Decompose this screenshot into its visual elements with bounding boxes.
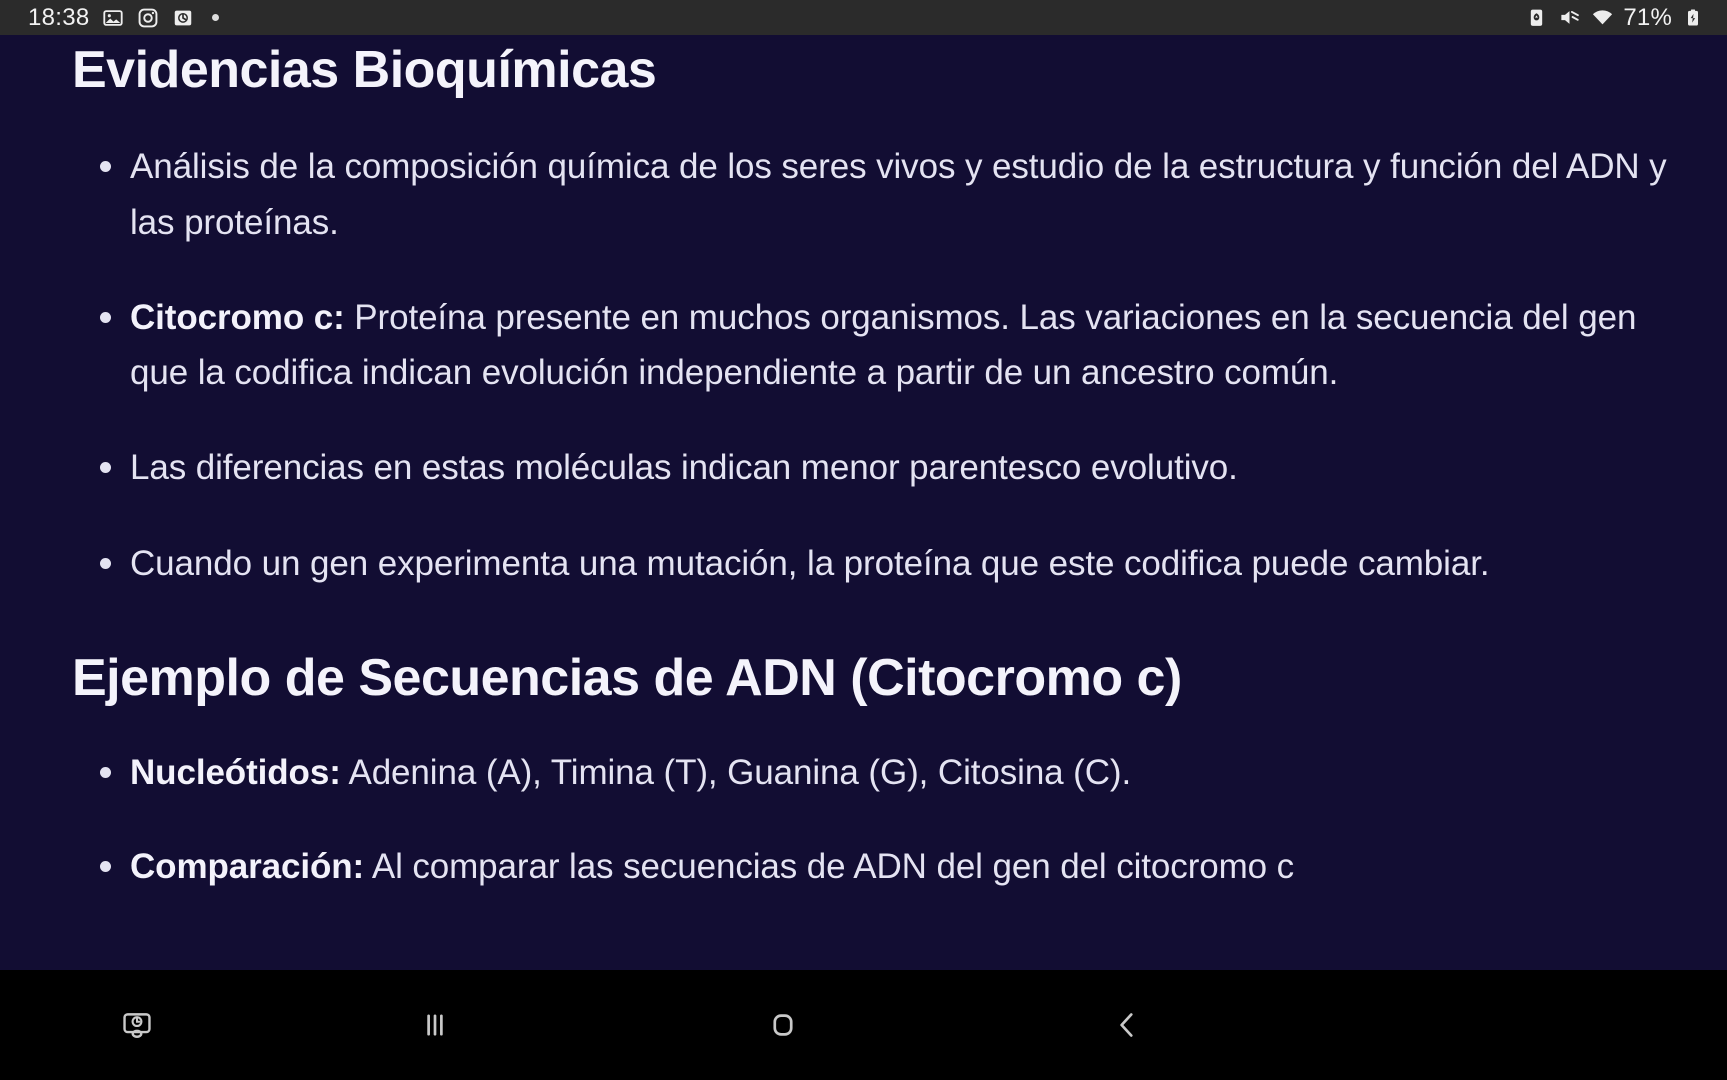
list-item-text: Las diferencias en estas moléculas indic… bbox=[130, 448, 1238, 487]
list-item: Análisis de la composición química de lo… bbox=[72, 139, 1687, 250]
presentation-slide[interactable]: Evidencias Bioquímicas Análisis de la co… bbox=[0, 35, 1727, 970]
screenshot-notification-icon bbox=[171, 6, 195, 30]
list-item-text: Cuando un gen experimenta una mutación, … bbox=[130, 544, 1489, 583]
mute-icon bbox=[1557, 6, 1581, 30]
status-bar: 18:38 bbox=[0, 0, 1727, 35]
device-screen: 18:38 bbox=[0, 0, 1727, 1080]
list-item-lead: Comparación: bbox=[130, 847, 364, 886]
status-clock: 18:38 bbox=[28, 6, 90, 30]
gallery-icon bbox=[101, 6, 125, 30]
list-item-text: Al comparar las secuencias de ADN del ge… bbox=[364, 847, 1294, 886]
list-item-text: Proteína presente en muchos organismos. … bbox=[130, 298, 1636, 392]
list-item-text: Adenina (A), Timina (T), Guanina (G), Ci… bbox=[341, 753, 1131, 792]
list-item: Las diferencias en estas moléculas indic… bbox=[72, 440, 1687, 495]
battery-charging-icon bbox=[1681, 6, 1705, 30]
list-item: Nucleótidos: Adenina (A), Timina (T), Gu… bbox=[72, 745, 1687, 800]
list-item: Cuando un gen experimenta una mutación, … bbox=[72, 536, 1687, 591]
slide-content: Evidencias Bioquímicas Análisis de la co… bbox=[0, 41, 1727, 894]
recents-icon[interactable] bbox=[370, 970, 500, 1080]
screen-capture-icon[interactable] bbox=[72, 970, 202, 1080]
section-heading-evidencias-bioquimicas: Evidencias Bioquímicas bbox=[72, 41, 1687, 99]
bullet-list-evidencias: Análisis de la composición química de lo… bbox=[72, 139, 1687, 591]
back-icon[interactable] bbox=[1062, 970, 1192, 1080]
wifi-icon bbox=[1590, 6, 1614, 30]
list-item-lead: Nucleótidos: bbox=[130, 753, 341, 792]
bullet-list-ejemplo: Nucleótidos: Adenina (A), Timina (T), Gu… bbox=[72, 745, 1687, 894]
navigation-bar bbox=[0, 970, 1727, 1080]
more-notifications-dot bbox=[212, 14, 219, 21]
status-bar-right: 71% bbox=[1524, 6, 1705, 30]
status-bar-left: 18:38 bbox=[28, 6, 219, 30]
list-item-text: Análisis de la composición química de lo… bbox=[130, 147, 1667, 241]
battery-percent-label: 71% bbox=[1623, 6, 1672, 30]
section-heading-ejemplo-secuencias-adn: Ejemplo de Secuencias de ADN (Citocromo … bbox=[72, 649, 1687, 707]
instagram-icon bbox=[136, 6, 160, 30]
battery-saver-icon bbox=[1524, 6, 1548, 30]
list-item-lead: Citocromo c: bbox=[130, 298, 345, 337]
list-item: Citocromo c: Proteína presente en muchos… bbox=[72, 290, 1687, 401]
list-item: Comparación: Al comparar las secuencias … bbox=[72, 839, 1687, 894]
home-icon[interactable] bbox=[718, 970, 848, 1080]
